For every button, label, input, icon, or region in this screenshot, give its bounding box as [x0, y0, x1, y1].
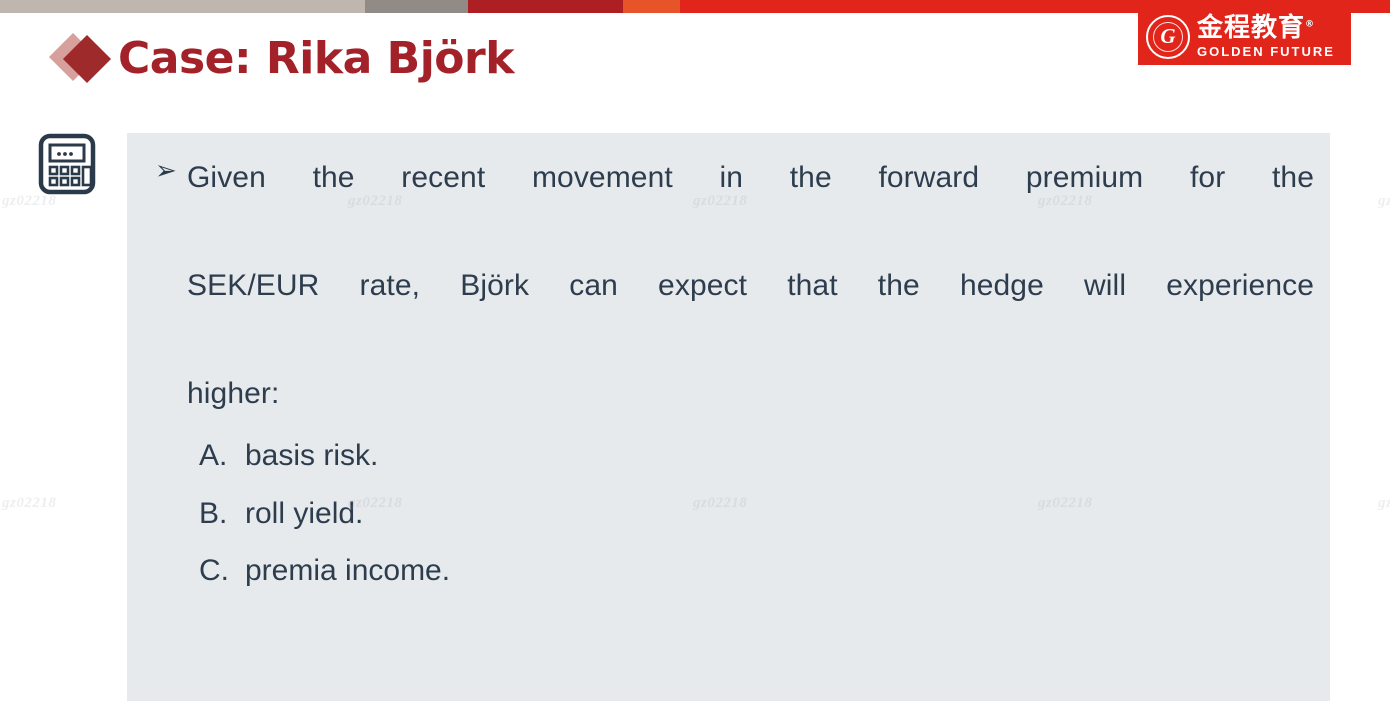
answer-option-c[interactable]: C. premia income. [199, 552, 1316, 590]
answer-option-b-text: roll yield. [245, 495, 1316, 533]
topbar-segment-mid-gray [365, 0, 468, 13]
logo-name-english: GOLDEN FUTURE [1197, 45, 1335, 58]
topbar-segment-dark-red [468, 0, 623, 13]
answer-option-a-letter: A. [199, 437, 245, 475]
watermark: gz02218 [1378, 193, 1390, 210]
slide-title-row: Case: Rika Björk [48, 28, 514, 90]
answer-option-b[interactable]: B. roll yield. [199, 495, 1316, 533]
diamond-bullet-icon [48, 28, 118, 90]
registered-mark-icon: ® [1305, 19, 1315, 29]
question-text: Given the recent movement in the forward… [187, 151, 1316, 421]
answer-option-a[interactable]: A. basis risk. [199, 437, 1316, 475]
question-block: ➢ Given the recent movement in the forwa… [141, 151, 1316, 421]
answer-option-b-letter: B. [199, 495, 245, 533]
content-panel: ➢ Given the recent movement in the forwa… [127, 133, 1330, 701]
logo-name-chinese-text: 金程教育 [1197, 13, 1305, 43]
watermark: gz02218 [2, 495, 56, 512]
logo-text-block: 金程教育® GOLDEN FUTURE [1197, 15, 1335, 58]
arrow-bullet-icon: ➢ [141, 151, 187, 183]
topbar-segment-orange-red [623, 0, 680, 13]
logo-name-chinese: 金程教育® [1197, 15, 1335, 41]
watermark: gz02218 [1378, 495, 1390, 512]
calculator-icon [38, 133, 96, 195]
question-line-3: higher: [187, 367, 1314, 421]
question-line-2: SEK/EUR rate, Björk can expect that the … [187, 259, 1314, 367]
topbar-segment-light-warm-gray [0, 0, 365, 13]
question-line-1: Given the recent movement in the forward… [187, 151, 1314, 259]
logo-seal-icon: G [1146, 15, 1190, 59]
answer-option-c-letter: C. [199, 552, 245, 590]
answer-option-c-text: premia income. [245, 552, 1316, 590]
page-title: Case: Rika Björk [118, 37, 514, 81]
brand-logo: G 金程教育® GOLDEN FUTURE [1138, 8, 1351, 65]
answer-options-list: A. basis risk. B. roll yield. C. premia … [141, 437, 1316, 590]
answer-option-a-text: basis risk. [245, 437, 1316, 475]
logo-seal-letter: G [1160, 26, 1175, 47]
watermark: gz02218 [2, 193, 56, 210]
